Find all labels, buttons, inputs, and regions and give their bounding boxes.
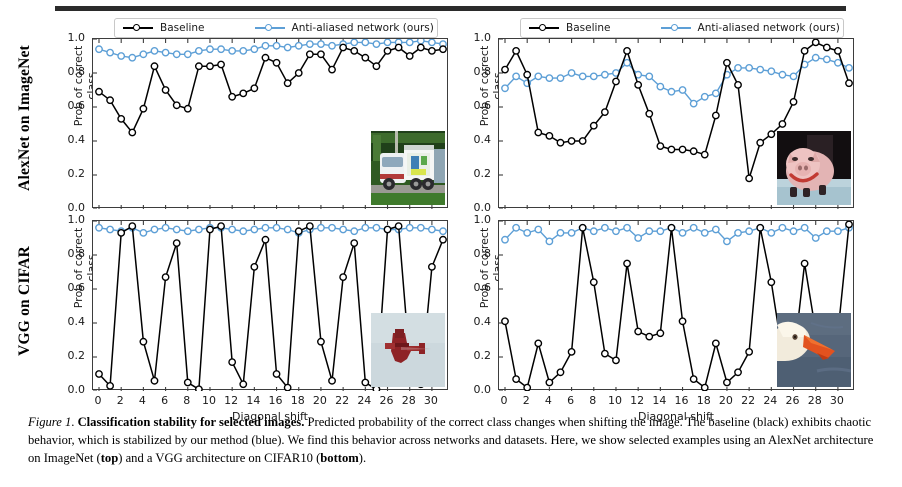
inset-white-goose-photo	[777, 313, 851, 387]
axes-bl: 0.00.20.40.60.81.0	[92, 220, 448, 390]
y-tick-label: 0.6	[474, 281, 492, 294]
x-tick-label: 18	[697, 394, 711, 407]
x-tick-label: 22	[335, 394, 349, 407]
legend-label-antialiased: Anti-aliased network (ours)	[292, 22, 434, 34]
legend-marker-antialiased-icon	[661, 22, 691, 34]
legend-marker-baseline-icon	[123, 22, 153, 34]
y-tick-label: 0.2	[474, 349, 492, 362]
y-tick-label: 0.4	[68, 133, 86, 146]
x-tick-label: 10	[608, 394, 622, 407]
y-tick-label: 0.4	[474, 315, 492, 328]
x-tick-label: 18	[291, 394, 305, 407]
legend-top-right: Baseline Anti-aliased network (ours)	[520, 18, 844, 38]
panel-vgg-goose: Prob of correct class	[498, 220, 854, 390]
panel-vgg-plane: Prob of correct class	[92, 220, 448, 390]
x-tick-label: 8	[589, 394, 596, 407]
y-tick-label: 0.0	[68, 383, 86, 396]
x-tick-label: 2	[523, 394, 530, 407]
x-tick-label: 24	[357, 394, 371, 407]
row-label-vgg: VGG on CIFAR	[16, 196, 34, 406]
x-ticks-bl: 024681012141618202224262830	[92, 394, 448, 408]
x-tick-label: 4	[545, 394, 552, 407]
y-tick-label: 0.0	[474, 383, 492, 396]
y-tick-label: 0.2	[68, 167, 86, 180]
inset-garbage-truck-photo	[371, 131, 445, 205]
x-tick-label: 12	[224, 394, 238, 407]
x-tick-label: 6	[567, 394, 574, 407]
y-tick-label: 0.8	[474, 65, 492, 78]
figure-caption: Figure 1. Classification stability for s…	[28, 414, 874, 468]
y-tick-label: 0.6	[474, 99, 492, 112]
axes-br: 0.00.20.40.60.81.0	[498, 220, 854, 390]
figure-page: AlexNet on ImageNet VGG on CIFAR Baselin…	[0, 0, 902, 487]
y-tick-label: 0.8	[68, 65, 86, 78]
x-tick-label: 20	[719, 394, 733, 407]
legend-label-baseline: Baseline	[566, 22, 611, 34]
y-tick-label: 0.8	[68, 247, 86, 260]
x-tick-label: 14	[652, 394, 666, 407]
caption-body-3b: ) and a VGG architecture on CIFAR10 (	[118, 451, 320, 465]
x-tick-label: 26	[380, 394, 394, 407]
legend-top-left: Baseline Anti-aliased network (ours)	[114, 18, 438, 38]
caption-bold-top: top	[101, 451, 119, 465]
x-tick-label: 20	[313, 394, 327, 407]
x-tick-label: 2	[117, 394, 124, 407]
x-ticks-br: 024681012141618202224262830	[498, 394, 854, 408]
legend-entry-antialiased: Anti-aliased network (ours)	[661, 19, 840, 37]
panel-alexnet-truck: Baseline Anti-aliased network (ours) Pro…	[92, 38, 448, 208]
x-tick-label: 28	[402, 394, 416, 407]
x-tick-label: 0	[501, 394, 508, 407]
axes-tl: 0.00.20.40.60.81.0	[92, 38, 448, 208]
y-tick-label: 1.0	[68, 31, 86, 44]
x-tick-label: 14	[246, 394, 260, 407]
x-tick-label: 28	[808, 394, 822, 407]
caption-body-1: Predicted probability of the correct cla…	[304, 415, 705, 429]
legend-entry-antialiased: Anti-aliased network (ours)	[255, 19, 434, 37]
x-tick-label: 16	[269, 394, 283, 407]
x-tick-label: 24	[763, 394, 777, 407]
y-tick-label: 0.8	[474, 247, 492, 260]
inset-pig-photo	[777, 131, 851, 205]
caption-figure-number: Figure 1.	[28, 415, 74, 429]
y-tick-label: 1.0	[68, 213, 86, 226]
axes-tr: 0.00.20.40.60.81.0	[498, 38, 854, 208]
row-label-alexnet: AlexNet on ImageNet	[16, 13, 34, 223]
x-tick-label: 16	[675, 394, 689, 407]
x-tick-label: 0	[95, 394, 102, 407]
y-tick-label: 0.2	[474, 167, 492, 180]
x-tick-label: 22	[741, 394, 755, 407]
legend-label-antialiased: Anti-aliased network (ours)	[698, 22, 840, 34]
legend-marker-baseline-icon	[529, 22, 559, 34]
y-tick-label: 0.6	[68, 281, 86, 294]
y-tick-label: 1.0	[474, 213, 492, 226]
caption-bold-bottom: bottom	[320, 451, 358, 465]
legend-label-baseline: Baseline	[160, 22, 205, 34]
caption-body-3c: ).	[359, 451, 366, 465]
legend-marker-antialiased-icon	[255, 22, 285, 34]
x-tick-label: 10	[202, 394, 216, 407]
x-tick-label: 30	[424, 394, 438, 407]
legend-entry-baseline: Baseline	[529, 19, 611, 37]
x-tick-label: 26	[786, 394, 800, 407]
y-tick-label: 1.0	[474, 31, 492, 44]
y-tick-label: 0.4	[68, 315, 86, 328]
panel-alexnet-pig: Baseline Anti-aliased network (ours) Pro…	[498, 38, 854, 208]
x-tick-label: 4	[139, 394, 146, 407]
y-tick-label: 0.4	[474, 133, 492, 146]
x-tick-label: 8	[183, 394, 190, 407]
caption-title: Classification stability for selected im…	[78, 415, 305, 429]
figure-grid: AlexNet on ImageNet VGG on CIFAR Baselin…	[0, 14, 902, 404]
x-tick-label: 12	[630, 394, 644, 407]
legend-entry-baseline: Baseline	[123, 19, 205, 37]
inset-red-biplane-photo	[371, 313, 445, 387]
y-tick-label: 0.6	[68, 99, 86, 112]
x-tick-label: 30	[830, 394, 844, 407]
y-tick-label: 0.2	[68, 349, 86, 362]
page-top-rule	[55, 6, 846, 11]
x-tick-label: 6	[161, 394, 168, 407]
